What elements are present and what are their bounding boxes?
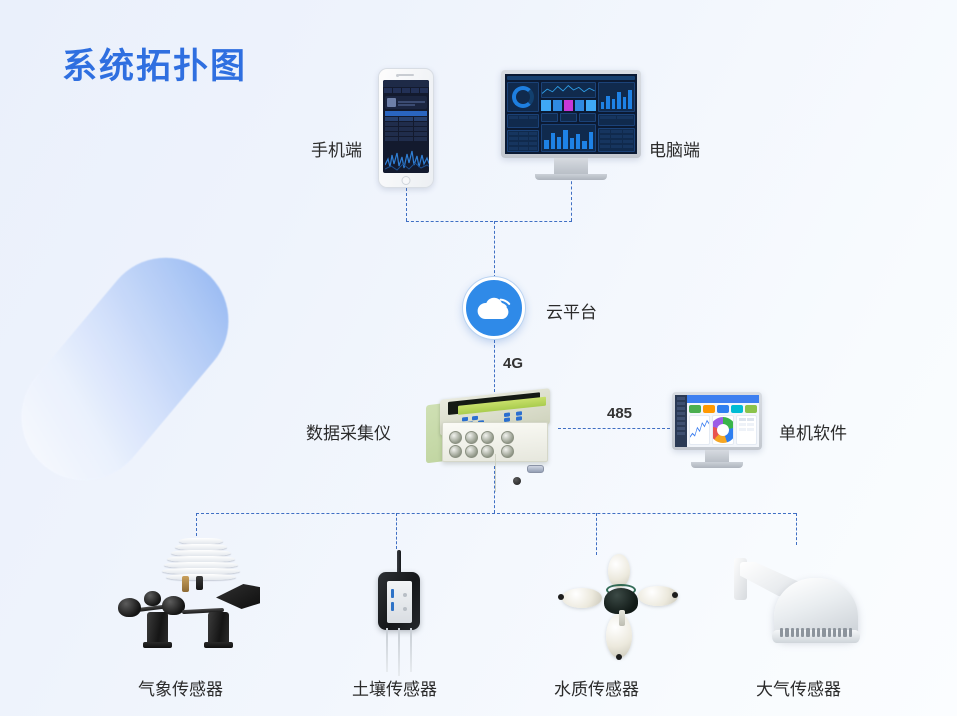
phone-app-statusbar xyxy=(383,80,429,87)
dome-vent-grill xyxy=(780,628,852,637)
monitor-base xyxy=(535,174,607,180)
table-panel xyxy=(507,130,539,152)
collector-connector xyxy=(465,445,478,458)
app-table xyxy=(736,415,757,445)
link-desktop-down xyxy=(571,176,572,221)
monitor-neck xyxy=(554,158,588,174)
phone-home-button[interactable] xyxy=(402,176,411,185)
desktop-monitor-icon[interactable] xyxy=(501,70,641,180)
collector-connector xyxy=(501,445,514,458)
monitor-bezel xyxy=(501,70,641,158)
data-logger-icon[interactable] xyxy=(424,392,554,466)
link-drop-water xyxy=(596,513,597,555)
link-label-4g: 4G xyxy=(503,355,523,372)
collector-connector xyxy=(481,431,494,444)
water-quality-buoy-icon[interactable] xyxy=(548,552,698,662)
kpi-tiles xyxy=(541,113,596,122)
link-collector-to-standalone xyxy=(558,428,670,429)
wind-vane-fin xyxy=(216,584,260,610)
link-drop-air xyxy=(796,513,797,545)
phone-table-row xyxy=(385,127,427,131)
decorative-capsule-shape xyxy=(0,232,254,506)
collector-panel-divider xyxy=(495,454,496,492)
phone-app-card xyxy=(385,96,427,109)
link-cloud-to-collector xyxy=(494,340,495,392)
donut-ring xyxy=(712,417,733,443)
collector-serial-port xyxy=(527,465,544,473)
bar-chart-panel xyxy=(541,124,596,152)
dashboard-right-column xyxy=(598,82,635,152)
soil-cable xyxy=(397,550,401,574)
air-quality-dome-icon[interactable] xyxy=(728,546,878,656)
anemometer-base xyxy=(143,642,172,648)
sensor-stem xyxy=(182,576,189,592)
soil-prong xyxy=(386,628,388,672)
mobile-label: 手机端 xyxy=(311,136,362,161)
desktop-label: 电脑端 xyxy=(649,136,700,161)
buoy-stem xyxy=(619,610,625,626)
collector-connector xyxy=(481,445,494,458)
phone-speaker xyxy=(398,74,414,76)
collector-connector xyxy=(449,431,462,444)
cloud-label: 云平台 xyxy=(546,298,597,323)
sensor-probe xyxy=(196,576,203,590)
sensor-label-water: 水质传感器 xyxy=(554,675,639,700)
app-donut-chart xyxy=(712,415,733,445)
app-main xyxy=(687,395,759,447)
collector-connector xyxy=(501,431,514,444)
radiation-shield xyxy=(160,538,242,580)
cloud-glyph xyxy=(474,292,514,324)
sensor-label-weather: 气象传感器 xyxy=(138,675,223,700)
phone-table-row xyxy=(385,117,427,121)
soil-prong xyxy=(398,628,400,676)
link-label-485: 485 xyxy=(607,405,632,422)
phone-table-row xyxy=(385,122,427,126)
collector-connector xyxy=(449,445,462,458)
standalone-monitor-icon[interactable] xyxy=(672,392,762,468)
dark-dashboard xyxy=(505,74,637,154)
standalone-label: 单机软件 xyxy=(779,419,847,444)
buoy-float-left xyxy=(562,588,602,608)
standalone-neck xyxy=(705,450,729,462)
soil-housing xyxy=(378,572,420,630)
vane-base xyxy=(204,642,233,648)
dashboard-body xyxy=(507,82,635,152)
link-sensor-bus xyxy=(196,513,796,514)
link-mobile-down xyxy=(406,188,407,221)
phone-app-tabs xyxy=(383,87,429,94)
info-panel xyxy=(598,114,635,126)
phone-screen xyxy=(383,80,429,173)
collector-connector xyxy=(465,431,478,444)
phone-table-row xyxy=(385,137,427,141)
app-sidebar xyxy=(675,395,687,447)
collector-label: 数据采集仪 xyxy=(306,419,391,444)
dashboard-left-column xyxy=(507,82,539,152)
vane-post xyxy=(208,612,229,644)
anemometer-cup xyxy=(118,598,141,617)
standalone-bezel xyxy=(672,392,762,450)
standalone-screen xyxy=(675,395,759,447)
app-cards xyxy=(687,415,759,447)
app-topbar xyxy=(687,395,759,403)
smartphone-icon[interactable] xyxy=(378,68,434,188)
link-top-bus xyxy=(406,221,572,222)
status-tiles xyxy=(541,100,596,111)
gauge-ring xyxy=(512,86,534,108)
page-title: 系统拓扑图 xyxy=(62,38,247,89)
app-line-chart xyxy=(689,415,710,445)
soil-prong xyxy=(410,628,412,672)
phone-table-header xyxy=(385,111,427,116)
buoy-tip xyxy=(558,594,564,600)
topology-diagram-canvas: 系统拓扑图 xyxy=(0,0,957,716)
sensor-label-air: 大气传感器 xyxy=(756,675,841,700)
stat-panel xyxy=(507,114,539,128)
soil-probe-icon[interactable] xyxy=(350,544,450,654)
collector-front-panel xyxy=(442,422,548,462)
trend-panel xyxy=(541,82,596,98)
list-panel xyxy=(598,128,635,152)
collector-knob[interactable] xyxy=(513,477,521,485)
phone-table-row xyxy=(385,132,427,136)
cloud-upload-icon[interactable] xyxy=(463,277,525,339)
bar-series xyxy=(542,125,595,151)
buoy-float-top xyxy=(608,554,630,588)
anemometer-post xyxy=(147,612,168,644)
app-stat-icons xyxy=(687,403,759,415)
link-bus-to-cloud xyxy=(494,221,495,278)
soil-faceplate xyxy=(387,581,412,623)
dashboard-header xyxy=(507,76,635,80)
buoy-tip xyxy=(672,592,678,598)
monitor-screen xyxy=(505,74,637,154)
buoy-tip xyxy=(616,654,622,660)
phone-waveform-chart xyxy=(385,145,429,171)
mini-bars-panel xyxy=(598,82,635,112)
anemometer-cup xyxy=(144,591,161,606)
gauge-panel xyxy=(507,82,539,112)
sensor-label-soil: 土壤传感器 xyxy=(352,675,437,700)
dashboard-center-column xyxy=(541,82,596,152)
weather-station-icon[interactable] xyxy=(110,536,290,646)
standalone-base xyxy=(691,462,743,468)
